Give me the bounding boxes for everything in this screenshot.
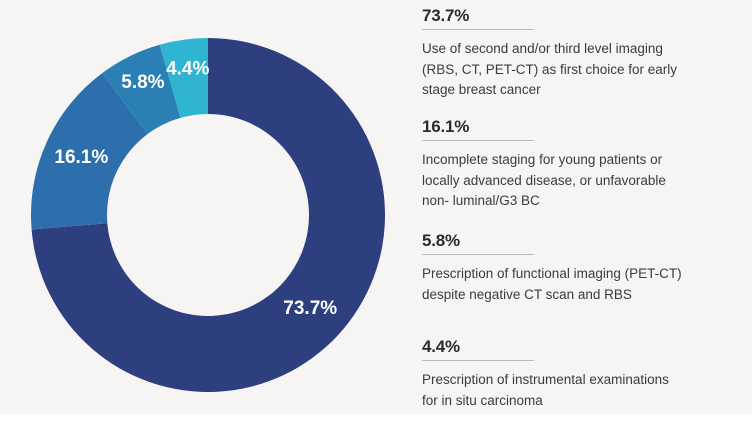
legend-percent: 16.1% xyxy=(422,117,469,140)
donut-slice-group xyxy=(31,38,385,392)
legend-description: Prescription of instrumental examination… xyxy=(422,370,740,411)
legend-item: 4.4% Prescription of instrumental examin… xyxy=(422,337,752,411)
legend-item: 5.8% Prescription of functional imaging … xyxy=(422,231,752,305)
bottom-white-band xyxy=(0,414,752,423)
legend-description: Prescription of functional imaging (PET-… xyxy=(422,264,740,305)
chart-page: 73.7%16.1%5.8%4.4% 73.7% Use of second a… xyxy=(0,0,752,423)
legend-description: Incomplete staging for young patients or… xyxy=(422,150,740,212)
legend: 73.7% Use of second and/or third level i… xyxy=(422,0,752,423)
legend-percent: 5.8% xyxy=(422,231,460,254)
legend-underline xyxy=(422,140,534,141)
legend-description-line: non- luminal/G3 BC xyxy=(422,191,740,212)
legend-percent: 73.7% xyxy=(422,6,469,29)
donut-slice-label: 5.8% xyxy=(121,72,164,93)
donut-slice-label: 16.1% xyxy=(54,147,108,168)
donut-slice-label: 73.7% xyxy=(283,298,337,319)
legend-description-line: Prescription of instrumental examination… xyxy=(422,370,740,391)
legend-description-line: Prescription of functional imaging (PET-… xyxy=(422,264,740,285)
legend-item: 16.1% Incomplete staging for young patie… xyxy=(422,117,752,212)
legend-underline xyxy=(422,254,534,255)
legend-description-line: Incomplete staging for young patients or xyxy=(422,150,740,171)
legend-item: 73.7% Use of second and/or third level i… xyxy=(422,6,752,101)
donut-slice-label: 4.4% xyxy=(166,58,209,79)
legend-description-line: despite negative CT scan and RBS xyxy=(422,285,740,306)
legend-description-line: stage breast cancer xyxy=(422,80,740,101)
donut-chart-svg: 73.7%16.1%5.8%4.4% xyxy=(20,18,390,408)
legend-underline xyxy=(422,29,534,30)
legend-underline xyxy=(422,360,534,361)
legend-description-line: Use of second and/or third level imaging xyxy=(422,39,740,60)
legend-percent: 4.4% xyxy=(422,337,460,360)
donut-chart: 73.7%16.1%5.8%4.4% xyxy=(0,0,410,423)
legend-description-line: (RBS, CT, PET-CT) as first choice for ea… xyxy=(422,60,740,81)
legend-description-line: for in situ carcinoma xyxy=(422,391,740,412)
legend-description-line: locally advanced disease, or unfavorable xyxy=(422,171,740,192)
legend-description: Use of second and/or third level imaging… xyxy=(422,39,740,101)
